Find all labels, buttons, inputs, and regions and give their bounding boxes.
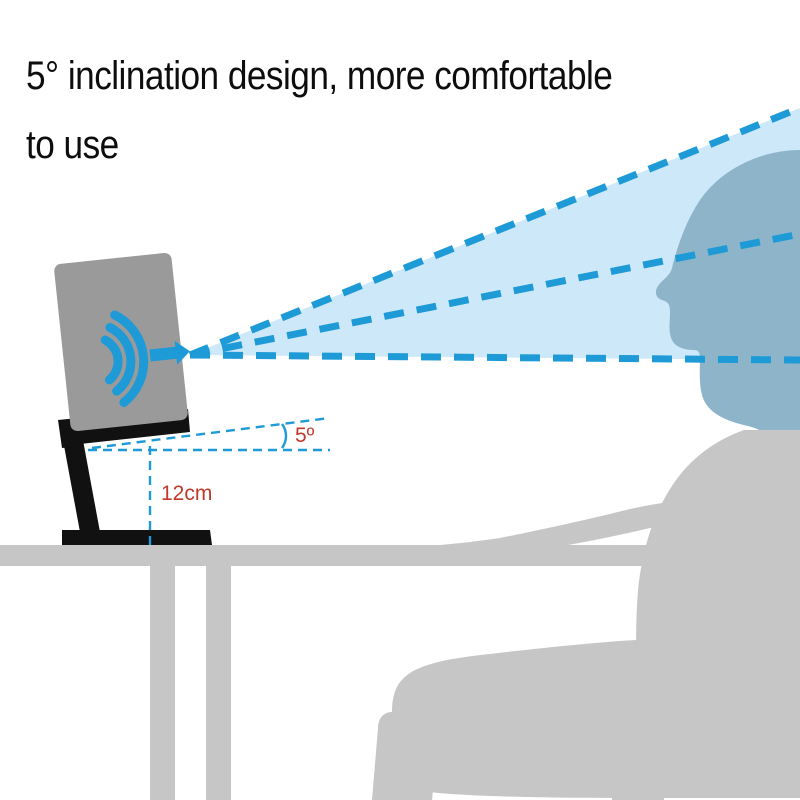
angle-label: 5º <box>295 424 315 447</box>
desk-top <box>0 545 800 566</box>
chair-post <box>612 756 664 800</box>
infographic-illustration: 5º 12cm <box>0 0 800 800</box>
stand-base-foot <box>62 530 212 545</box>
chair-group <box>430 720 800 800</box>
height-label: 12cm <box>161 482 212 505</box>
desk-leg-right <box>206 566 231 800</box>
desk-leg-left <box>150 566 175 800</box>
infographic-canvas: 5º 12cm 5° inclination design, more comf… <box>0 0 800 800</box>
